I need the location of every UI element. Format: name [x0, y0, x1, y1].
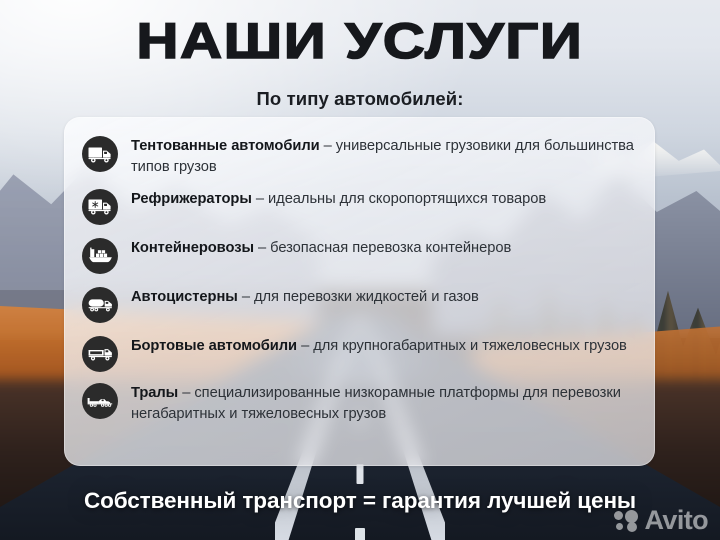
container-ship-icon — [82, 238, 118, 274]
list-item-text: Тентованные автомобили – универсальные г… — [131, 134, 637, 178]
list-item-term: Бортовые автомобили — [131, 338, 297, 354]
list-item: Бортовые автомобили – для крупногабаритн… — [82, 334, 637, 372]
list-item-description: идеальны для скоропортящихся товаров — [268, 191, 546, 207]
refrigerated-truck-icon — [82, 189, 118, 225]
list-item-separator: – — [178, 385, 194, 401]
tanker-truck-icon — [82, 287, 118, 323]
box-truck-icon — [82, 136, 118, 172]
page-title: НАШИ УСЛУГИ — [0, 16, 720, 66]
list-item: Тентованные автомобили – универсальные г… — [82, 134, 637, 178]
avito-logo-icon — [614, 510, 640, 532]
list-item-text: Рефрижераторы – идеальны для скоропортящ… — [131, 187, 546, 210]
list-item-term: Тентованные автомобили — [131, 138, 320, 154]
flatbed-truck-icon — [82, 336, 118, 372]
page-subtitle: По типу автомобилей: — [0, 88, 720, 110]
lowboy-trailer-icon — [82, 383, 118, 419]
list-item-text: Тралы – специализированные низкорамные п… — [131, 381, 637, 425]
list-item-description: специализированные низкорамные платформы… — [131, 385, 621, 422]
list-item: Рефрижераторы – идеальны для скоропортящ… — [82, 187, 637, 225]
services-card: Тентованные автомобили – универсальные г… — [64, 117, 655, 466]
list-item-separator: – — [254, 240, 270, 256]
list-item-separator: – — [297, 338, 313, 354]
list-item: Тралы – специализированные низкорамные п… — [82, 381, 637, 425]
tagline-banner: Собственный транспорт = гарантия лучшей … — [0, 488, 720, 514]
list-item-description: безопасная перевозка контейнеров — [270, 240, 511, 256]
list-item-term: Рефрижераторы — [131, 191, 252, 207]
list-item-text: Контейнеровозы – безопасная перевозка ко… — [131, 236, 511, 259]
list-item-separator: – — [238, 289, 254, 305]
list-item: Контейнеровозы – безопасная перевозка ко… — [82, 236, 637, 274]
avito-watermark: Avito — [614, 507, 709, 534]
list-item: Автоцистерны – для перевозки жидкостей и… — [82, 285, 637, 323]
list-item-text: Бортовые автомобили – для крупногабаритн… — [131, 334, 627, 357]
list-item-separator: – — [252, 191, 268, 207]
list-item-text: Автоцистерны – для перевозки жидкостей и… — [131, 285, 479, 308]
avito-wordmark: Avito — [645, 507, 709, 534]
list-item-term: Контейнеровозы — [131, 240, 254, 256]
promo-image: НАШИ УСЛУГИ По типу автомобилей: Тенто — [0, 0, 720, 540]
list-item-term: Тралы — [131, 385, 178, 401]
list-item-description: для перевозки жидкостей и газов — [254, 289, 479, 305]
list-item-separator: – — [320, 138, 336, 154]
list-item-description: для крупногабаритных и тяжеловесных груз… — [313, 338, 627, 354]
list-item-term: Автоцистерны — [131, 289, 238, 305]
